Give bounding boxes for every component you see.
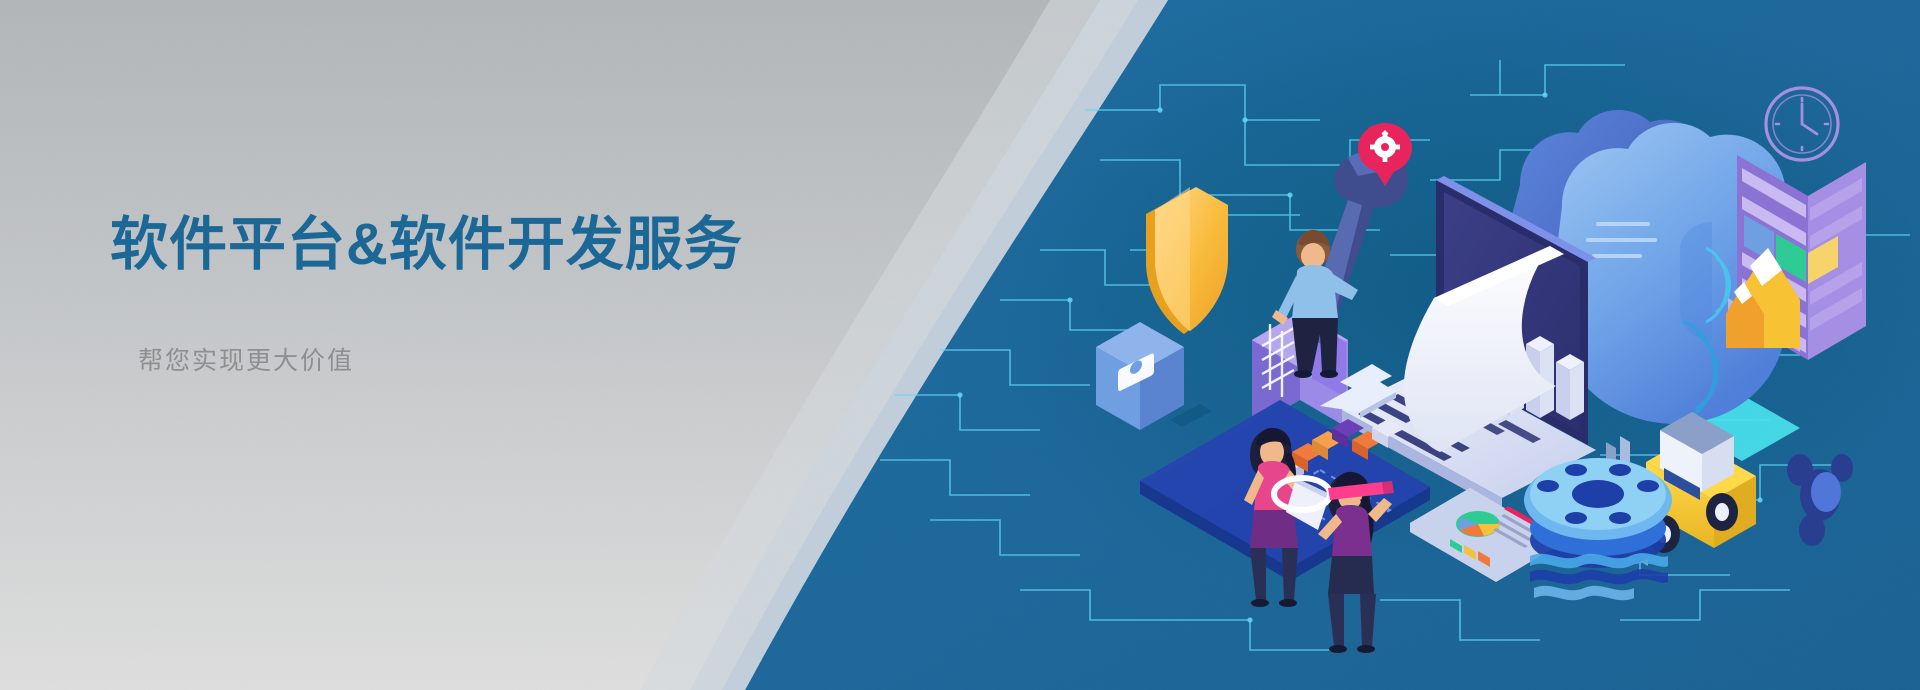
clock-icon bbox=[1766, 88, 1838, 160]
banner-text-block: 软件平台&软件开发服务 帮您实现更大价值 bbox=[110, 212, 870, 377]
page-subtitle: 帮您实现更大价值 bbox=[138, 341, 870, 377]
camera-tile-icon bbox=[1096, 322, 1212, 430]
promo-banner: 软件平台&软件开发服务 帮您实现更大价值 bbox=[0, 0, 1920, 690]
page-title: 软件平台&软件开发服务 bbox=[110, 212, 870, 279]
shield-icon bbox=[1146, 187, 1228, 334]
